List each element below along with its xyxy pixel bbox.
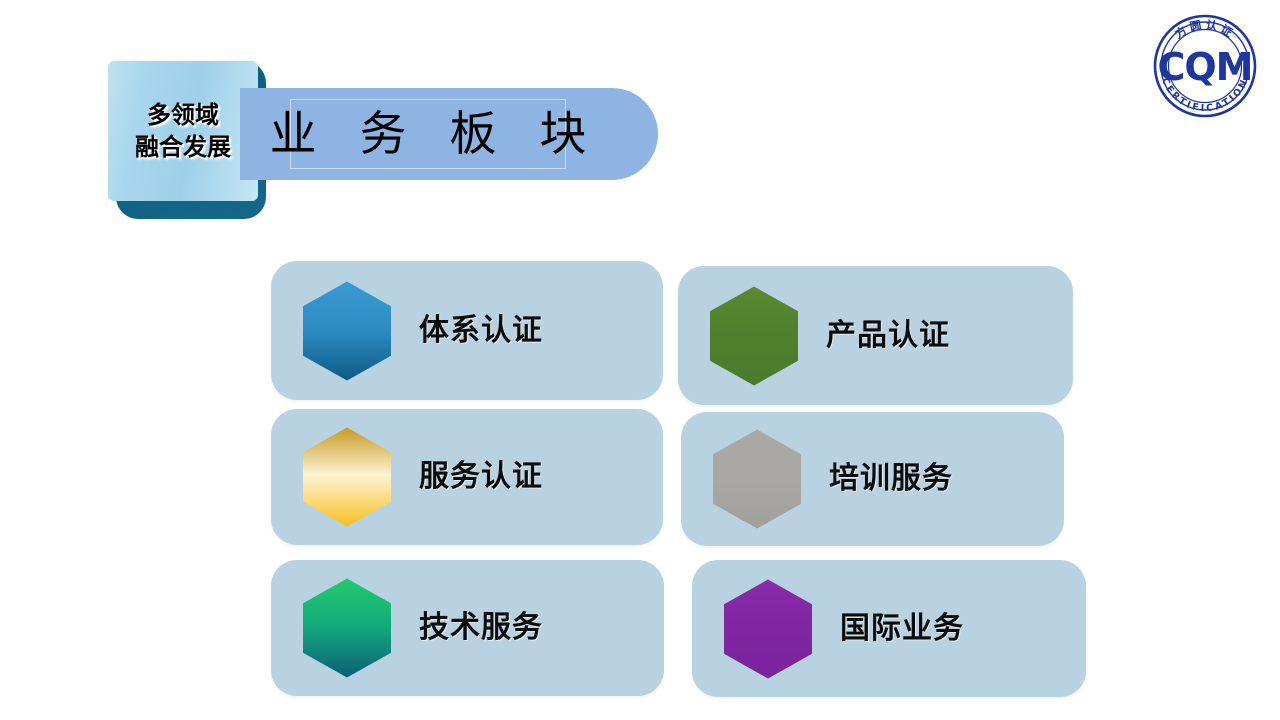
business-card[interactable]: 产品认证 bbox=[678, 266, 1073, 405]
business-card-label: 体系认证 bbox=[419, 316, 543, 346]
hexagon-icon bbox=[303, 281, 391, 380]
business-card[interactable]: 培训服务 bbox=[681, 412, 1064, 546]
business-card-label: 服务认证 bbox=[419, 462, 543, 492]
hexagon-icon bbox=[724, 579, 812, 678]
hexagon-icon bbox=[713, 430, 801, 529]
business-card-label: 国际业务 bbox=[840, 614, 964, 644]
page-title: 业 务 板 块 bbox=[256, 111, 601, 158]
slide-canvas: 方圆认证 CERTIFICATION CQM 多领域 融合发展 业 务 板 块 … bbox=[0, 0, 1280, 720]
hexagon-icon bbox=[303, 579, 391, 678]
section-title-frame: 业 务 板 块 bbox=[290, 99, 566, 169]
cqm-certification-logo: 方圆认证 CERTIFICATION CQM bbox=[1146, 8, 1264, 120]
business-card[interactable]: 国际业务 bbox=[692, 560, 1086, 697]
badge-line-2: 融合发展 bbox=[135, 135, 231, 159]
svg-text:CQM: CQM bbox=[1157, 45, 1252, 89]
section-title-bar: 业 务 板 块 bbox=[240, 88, 658, 180]
hexagon-icon bbox=[303, 428, 391, 527]
badge-face: 多领域 融合发展 bbox=[108, 61, 258, 201]
business-card-label: 培训服务 bbox=[829, 464, 953, 494]
business-card-label: 产品认证 bbox=[826, 321, 950, 351]
business-card[interactable]: 技术服务 bbox=[271, 560, 664, 696]
business-card-label: 技术服务 bbox=[419, 613, 543, 643]
hexagon-icon bbox=[710, 286, 798, 385]
business-card[interactable]: 体系认证 bbox=[271, 261, 663, 400]
badge-line-1: 多领域 bbox=[147, 103, 219, 127]
business-card[interactable]: 服务认证 bbox=[271, 409, 663, 545]
